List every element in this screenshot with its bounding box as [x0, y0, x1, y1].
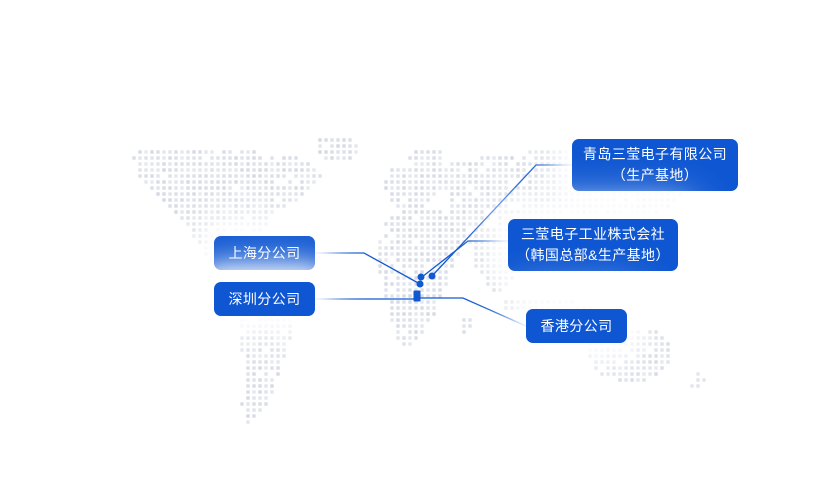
- label-korea-hq-line-1: 三莹电子工业株式会社: [521, 224, 665, 245]
- label-shanghai[interactable]: 上海分公司: [214, 236, 315, 270]
- marker-qingdao[interactable]: [429, 273, 436, 280]
- label-qingdao[interactable]: 青岛三莹电子有限公司（生产基地）: [572, 139, 738, 191]
- label-shenzhen[interactable]: 深圳分公司: [214, 282, 315, 316]
- label-hongkong[interactable]: 香港分公司: [526, 309, 627, 343]
- connector-lines: [0, 0, 824, 480]
- label-qingdao-line-2: （生产基地）: [612, 165, 698, 186]
- label-shanghai-line-1: 上海分公司: [229, 244, 301, 263]
- label-hongkong-line-1: 香港分公司: [541, 317, 613, 336]
- connector-shanghai: [315, 253, 420, 284]
- label-qingdao-line-1: 青岛三莹电子有限公司: [583, 144, 727, 165]
- dotted-world-map: [0, 0, 824, 480]
- label-korea-hq-line-2: （韩国总部&生产基地）: [516, 245, 670, 266]
- marker-shanghai[interactable]: [417, 281, 424, 288]
- marker-shenzhen[interactable]: [414, 291, 421, 302]
- marker-korea[interactable]: [418, 274, 425, 281]
- connector-hongkong: [417, 298, 526, 326]
- world-map-infographic: 青岛三莹电子有限公司（生产基地）三莹电子工业株式会社（韩国总部&生产基地）上海分…: [0, 0, 824, 480]
- label-shenzhen-line-1: 深圳分公司: [229, 290, 301, 309]
- label-korea-hq[interactable]: 三莹电子工业株式会社（韩国总部&生产基地）: [508, 219, 678, 271]
- connector-korea: [422, 241, 508, 277]
